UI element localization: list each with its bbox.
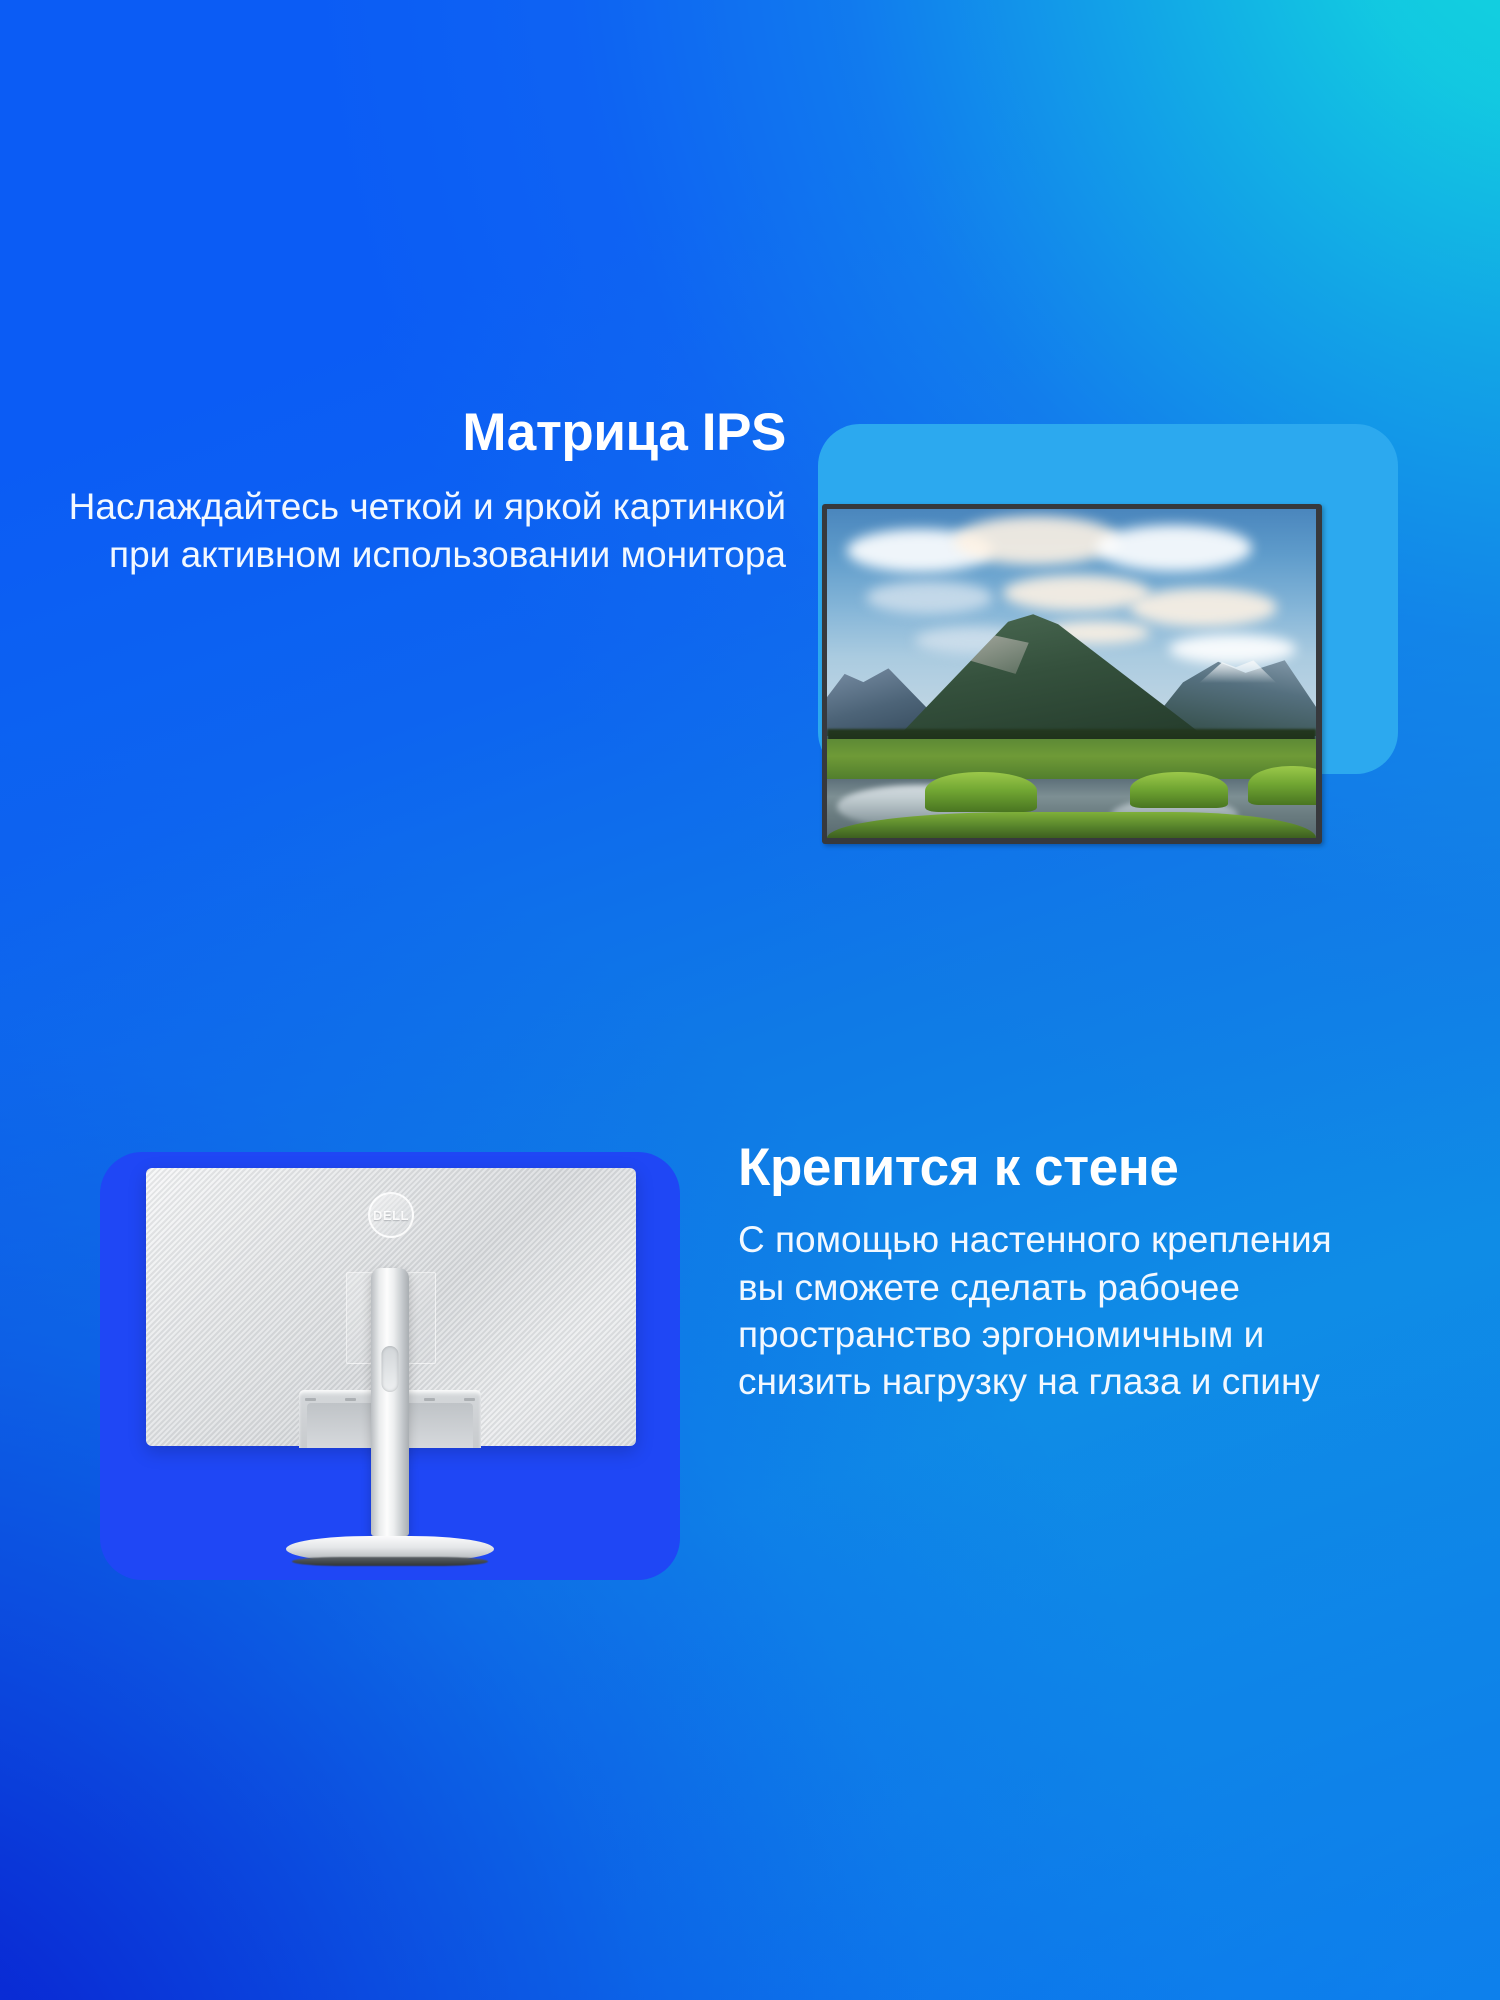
port-tick bbox=[345, 1398, 356, 1401]
grass-tuft bbox=[1130, 772, 1228, 808]
cloud-icon bbox=[1003, 575, 1150, 611]
meadow bbox=[827, 739, 1316, 782]
dell-logo-icon: DELL bbox=[368, 1192, 414, 1238]
ips-text-block: Матрица IPS Наслаждайтесь четкой и яркой… bbox=[60, 405, 786, 578]
promo-banner: Матрица IPS Наслаждайтесь четкой и яркой… bbox=[0, 0, 1500, 2000]
wall-mount-heading: Крепится к стене bbox=[738, 1140, 1378, 1196]
port-tick bbox=[305, 1398, 316, 1401]
port-tick bbox=[424, 1398, 435, 1401]
monitor-stand-base bbox=[286, 1536, 494, 1562]
monitor-front-view bbox=[822, 504, 1322, 844]
monitor-rear-view: DELL bbox=[140, 1168, 640, 1568]
cable-management-hole bbox=[382, 1346, 399, 1392]
monitor-screen-landscape bbox=[827, 509, 1316, 838]
background-gradient-light bbox=[0, 0, 1500, 2000]
port-tick bbox=[464, 1398, 475, 1401]
cloud-icon bbox=[1130, 588, 1277, 627]
wall-mount-text-block: Крепится к стене С помощью настенного кр… bbox=[738, 1140, 1378, 1406]
cloud-icon bbox=[1169, 634, 1296, 664]
cloud-icon bbox=[954, 516, 1120, 565]
ips-description: Наслаждайтесь четкой и яркой картинкой п… bbox=[60, 483, 786, 578]
wall-mount-description: С помощью настенного крепления вы сможет… bbox=[738, 1216, 1378, 1405]
ips-heading: Матрица IPS bbox=[60, 405, 786, 461]
grass-tuft bbox=[925, 772, 1037, 811]
grass-tuft bbox=[1248, 766, 1316, 805]
dell-logo-text: DELL bbox=[373, 1208, 409, 1223]
monitor-stand-column bbox=[371, 1268, 409, 1536]
